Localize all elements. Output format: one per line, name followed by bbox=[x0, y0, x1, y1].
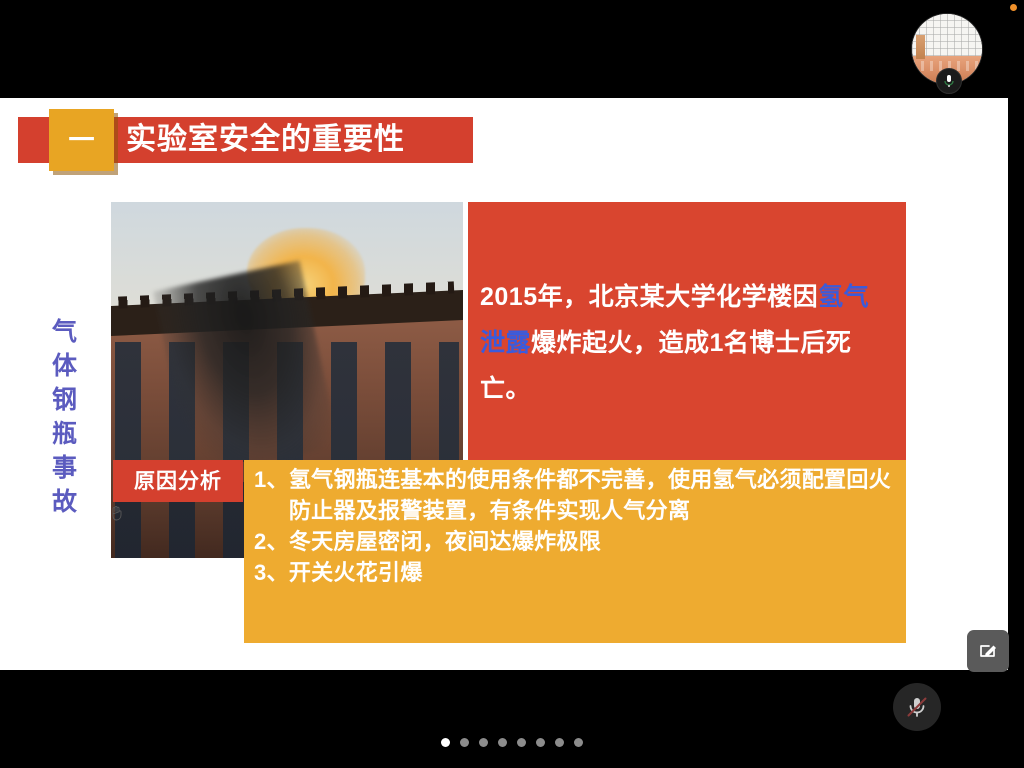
summary-part-1: 2015年，北京某大学化学楼因 bbox=[480, 283, 818, 311]
microphone-off-icon bbox=[904, 694, 930, 720]
cause-analysis-label: 原因分析 bbox=[134, 471, 222, 492]
avatar-pillar-detail bbox=[916, 35, 925, 59]
vertical-topic-label: 气 体 钢 瓶 事 故 bbox=[45, 315, 85, 519]
vertical-char-2: 体 bbox=[45, 349, 85, 383]
list-item-text: 开关火花引爆 bbox=[289, 557, 896, 588]
pager-dot[interactable] bbox=[574, 738, 583, 747]
pager-dot[interactable] bbox=[517, 738, 526, 747]
list-item-number: 3、 bbox=[244, 557, 289, 588]
pager-dot[interactable] bbox=[555, 738, 564, 747]
section-number-label: 一 bbox=[68, 127, 94, 153]
list-item: 3、 开关火花引爆 bbox=[244, 557, 896, 588]
pager-dot-active[interactable] bbox=[441, 738, 450, 747]
list-item: 1、 氢气钢瓶连基本的使用条件都不完善，使用氢气必须配置回火防止器及报警装置，有… bbox=[244, 464, 896, 526]
incident-summary-text: 2015年，北京某大学化学楼因氢气泄露爆炸起火，造成1名博士后死亡。 bbox=[480, 274, 894, 412]
section-number-badge: 一 bbox=[49, 109, 114, 171]
pen-square-icon bbox=[977, 640, 999, 662]
vertical-char-5: 事 bbox=[45, 451, 85, 485]
list-item-number: 2、 bbox=[244, 526, 289, 557]
vertical-char-4: 瓶 bbox=[45, 417, 85, 451]
vertical-char-6: 故 bbox=[45, 485, 85, 519]
microphone-mute-button[interactable] bbox=[893, 683, 941, 731]
vertical-char-3: 钢 bbox=[45, 383, 85, 417]
recording-indicator-dot bbox=[1010, 4, 1017, 11]
list-item-text: 氢气钢瓶连基本的使用条件都不完善，使用氢气必须配置回火防止器及报警装置，有条件实… bbox=[289, 464, 896, 526]
pager-dot[interactable] bbox=[460, 738, 469, 747]
page-title: 实验室安全的重要性 bbox=[126, 120, 405, 160]
cause-analysis-list: 1、 氢气钢瓶连基本的使用条件都不完善，使用氢气必须配置回火防止器及报警装置，有… bbox=[244, 460, 906, 643]
vertical-char-1: 气 bbox=[45, 315, 85, 349]
list-item-number: 1、 bbox=[244, 464, 289, 526]
pager-dot[interactable] bbox=[498, 738, 507, 747]
list-item-text: 冬天房屋密闭，夜间达爆炸极限 bbox=[289, 526, 896, 557]
slide-section-header: 一 实验室安全的重要性 bbox=[18, 117, 473, 163]
presenter-microphone-badge-icon bbox=[936, 68, 962, 94]
pager-dot[interactable] bbox=[479, 738, 488, 747]
list-item: 2、 冬天房屋密闭，夜间达爆炸极限 bbox=[244, 526, 896, 557]
slide-canvas[interactable]: 一 实验室安全的重要性 气 体 钢 瓶 事 故 实验室安全与防护 bbox=[0, 98, 1008, 670]
slide-pagination[interactable] bbox=[0, 738, 1024, 747]
annotate-button[interactable] bbox=[967, 630, 1009, 672]
summary-part-2: 爆炸起火，造成1名博士后死亡。 bbox=[480, 329, 851, 403]
pager-dot[interactable] bbox=[536, 738, 545, 747]
cause-analysis-tag: 原因分析 bbox=[113, 460, 243, 502]
presentation-viewer: 茂龙 一 实验室安全的重要性 气 体 钢 瓶 事 故 bbox=[0, 0, 1024, 768]
